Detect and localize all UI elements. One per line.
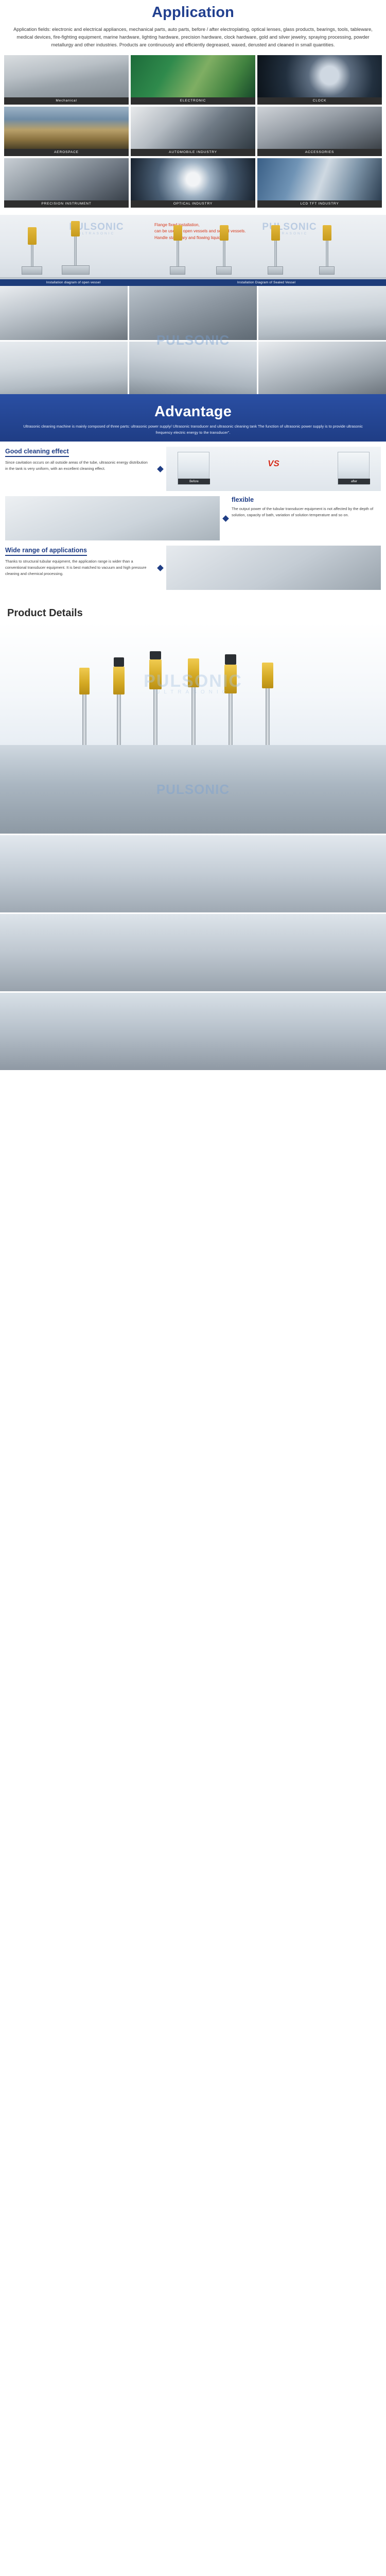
installation-caption-open-vessel: Installation diagram of open vessel: [0, 279, 147, 286]
installation-note-line-2: can be used in open vessels and sealed v…: [154, 228, 246, 235]
optical-lens-photo: [131, 158, 255, 200]
application-caption: PRECISION INSTRUMENT: [4, 200, 129, 208]
application-caption: ACCESSORIES: [257, 149, 382, 156]
rod-illustration-5: [221, 654, 240, 745]
installation-diagram-section: PULSONIC ULTRASONIC PULSONIC ULTRASONIC …: [0, 215, 386, 286]
advantage-block-title: flexible: [232, 496, 377, 503]
advantage-text: Good cleaning effect Since cavitation oc…: [5, 447, 154, 491]
footer-spacer: [0, 1070, 386, 1073]
rod-illustration-3: [147, 651, 164, 745]
ultrasonic-transducer-rod-family-photo[interactable]: PULSONIC ULTRASONIC: [0, 622, 386, 745]
application-cell-mechanical[interactable]: Mechanical: [4, 55, 129, 105]
workshop-assembly-photo[interactable]: [0, 914, 386, 991]
application-section: Application Application fields: electron…: [0, 0, 386, 208]
application-caption: AUTOMOBILE INDUSTRY: [131, 149, 255, 156]
application-caption: ELECTRONIC: [131, 97, 255, 105]
application-image-grid: Mechanical ELECTRONIC CLOCK AEROSPACE AU…: [0, 49, 386, 208]
technicians-assembling-rods-photo[interactable]: [0, 993, 386, 1070]
rod-illustration-1: [77, 668, 92, 745]
four-rods-on-test-rack-photo[interactable]: PULSONIC: [0, 745, 386, 834]
sealed-vessel-rig-illustration-4: [319, 225, 335, 275]
gallery-row: [0, 286, 386, 340]
top-photo-gallery: PULSONIC: [0, 286, 386, 394]
bench-test-setup-photo[interactable]: [129, 342, 257, 394]
rod-illustration-4: [185, 658, 202, 745]
application-cell-lcd-tft-industry[interactable]: LCD TFT INDUSTRY: [257, 158, 382, 208]
laboratory-tank-testing-photo[interactable]: [0, 835, 386, 912]
product-details-title: Product Details: [0, 601, 386, 622]
advantage-block-desc: The output power of the tubular transduc…: [232, 506, 377, 518]
bottom-photo-gallery: PULSONIC: [0, 745, 386, 1070]
advantage-header: Advantage Ultrasonic cleaning machine is…: [0, 394, 386, 442]
diamond-bullet-icon: [222, 515, 229, 522]
advantage-subtitle: Ultrasonic cleaning machine is mainly co…: [0, 420, 386, 436]
advantage-text: Wide range of applications Thanks to str…: [5, 546, 154, 590]
wrist-watch-photo: [257, 55, 382, 97]
advantage-block-title: Wide range of applications: [5, 547, 87, 556]
application-cell-electronic[interactable]: ELECTRONIC: [131, 55, 255, 105]
vs-label: VS: [268, 459, 279, 469]
brand-watermark-overlay: PULSONIC: [0, 745, 386, 834]
product-details-section: Product Details: [0, 601, 386, 745]
application-paragraph: Application fields: electronic and elect…: [0, 21, 386, 49]
application-cell-automobile[interactable]: AUTOMOBILE INDUSTRY: [131, 107, 255, 156]
installation-note: Flange fixed installation, can be used i…: [154, 222, 246, 242]
precision-instrument-photo: [4, 158, 129, 200]
advantage-text: flexible The output power of the tubular…: [232, 496, 381, 540]
open-vessel-rig-illustration: [22, 227, 42, 275]
advantage-block-title: Good cleaning effect: [5, 448, 69, 457]
beaker-before: Before: [178, 452, 209, 485]
electronic-circuit-board-photo: [131, 55, 255, 97]
installation-caption-sealed-vessel: Installation Diagram of Sealed Vessel: [147, 279, 386, 286]
application-caption: OPTICAL INDUSTRY: [131, 200, 255, 208]
multiple-transducer-rods-photo[interactable]: [166, 546, 381, 590]
diamond-bullet-icon: [157, 466, 164, 472]
diamond-bullet-icon: [157, 565, 164, 571]
sealed-vessel-rig-photo[interactable]: [0, 286, 128, 340]
installation-note-line-3: Handle stationary and flowing liquids.: [154, 235, 246, 242]
advantage-block-desc: Since cavitation occurs on all outside a…: [5, 460, 150, 472]
beaker-before-label: Before: [178, 479, 210, 484]
application-cell-accessories[interactable]: ACCESSORIES: [257, 107, 382, 156]
application-caption: LCD TFT INDUSTRY: [257, 200, 382, 208]
stainless-tank-installation-photo[interactable]: [258, 286, 386, 340]
page-title: Application: [0, 0, 386, 21]
advantage-blocks: Good cleaning effect Since cavitation oc…: [0, 442, 386, 601]
before-after-beakers-comparison[interactable]: VS Before after: [166, 447, 381, 491]
application-caption: AEROSPACE: [4, 149, 129, 156]
application-cell-precision-instrument[interactable]: PRECISION INSTRUMENT: [4, 158, 129, 208]
application-cell-clock[interactable]: CLOCK: [257, 55, 382, 105]
rod-illustration-6: [260, 663, 275, 745]
brand-watermark-text: PULSONIC: [156, 783, 230, 796]
advantage-section: Advantage Ultrasonic cleaning machine is…: [0, 394, 386, 602]
pipe-mounted-rod-photo[interactable]: [258, 342, 386, 394]
diagram-baseline: [0, 277, 386, 279]
rod-illustration-2: [111, 657, 127, 745]
gallery-row: [0, 342, 386, 394]
sealed-vessel-rig-illustration-1: [170, 225, 185, 275]
beaker-after-label: after: [338, 479, 370, 484]
sealed-vessel-rig-illustration-2: [216, 225, 232, 275]
metal-accessories-photo: [257, 107, 382, 149]
advantage-block-good-cleaning-effect: Good cleaning effect Since cavitation oc…: [5, 447, 381, 491]
advantage-block-flexible: flexible The output power of the tubular…: [5, 496, 381, 540]
ultrasonic-generator-and-rod-photo[interactable]: [5, 496, 220, 540]
application-cell-aerospace[interactable]: AEROSPACE: [4, 107, 129, 156]
lcd-tft-panel-photo: [257, 158, 382, 200]
product-detail-page: Application Application fields: electron…: [0, 0, 386, 1073]
aerospace-engine-photo: [4, 107, 129, 149]
beaker-after: after: [338, 452, 370, 485]
advantage-block-wide-range-of-applications: Wide range of applications Thanks to str…: [5, 546, 381, 590]
sealed-vessel-rig-illustration-3: [268, 225, 283, 275]
advantage-title: Advantage: [0, 399, 386, 420]
flange-mounted-rod-photo[interactable]: [0, 342, 128, 394]
advantage-block-desc: Thanks to structural tubular equipment, …: [5, 558, 150, 577]
ultrasonic-transducer-rod-photo[interactable]: [129, 286, 257, 340]
installation-note-line-1: Flange fixed installation,: [154, 222, 246, 229]
automobile-parts-photo: [131, 107, 255, 149]
open-vessel-rig-illustration-2: [62, 221, 90, 275]
application-caption: CLOCK: [257, 97, 382, 105]
mechanical-workshop-photo: [4, 55, 129, 97]
application-caption: Mechanical: [4, 97, 129, 105]
application-cell-optical-industry[interactable]: OPTICAL INDUSTRY: [131, 158, 255, 208]
